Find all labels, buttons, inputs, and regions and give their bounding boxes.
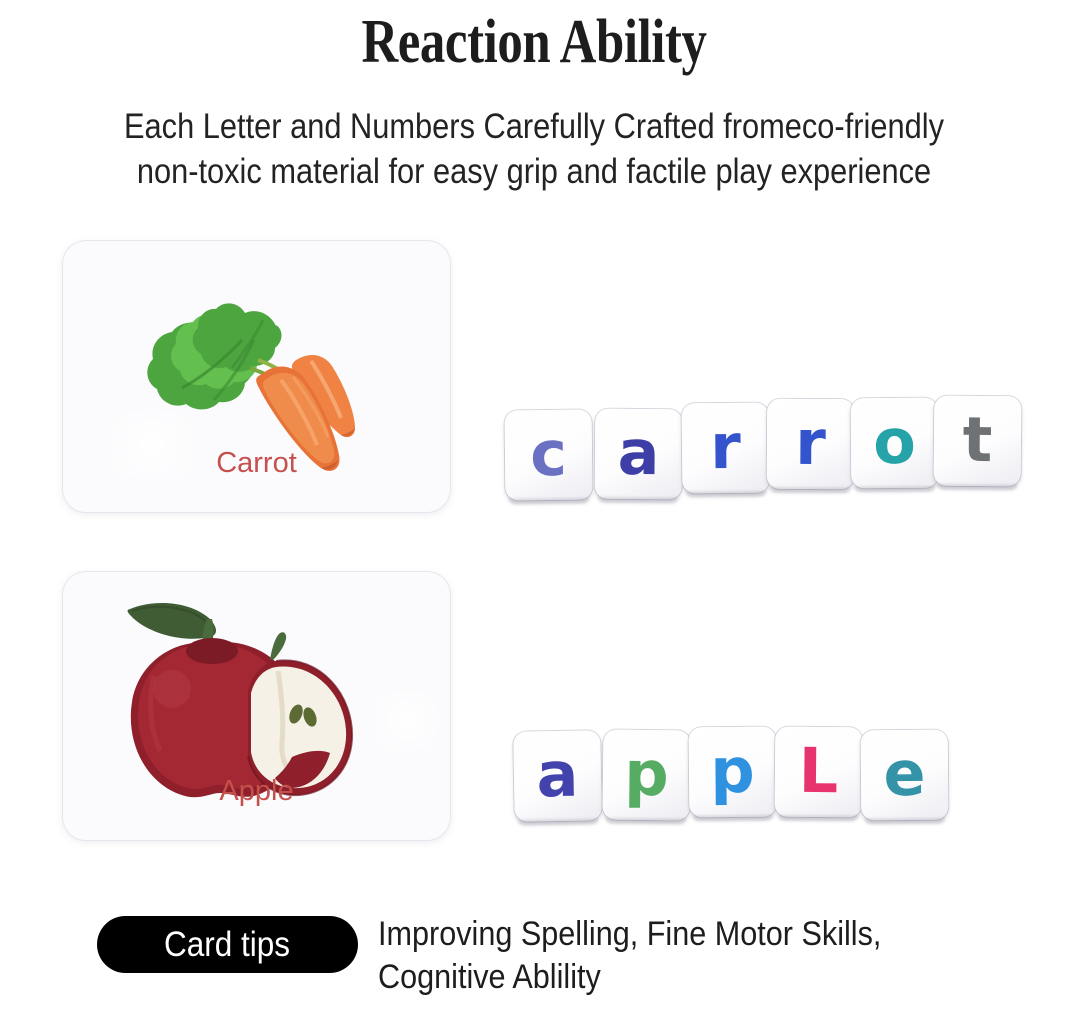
letter-tile-o[interactable]: o — [851, 398, 939, 489]
flashcard-carrot-caption: Carrot — [62, 446, 451, 480]
letter-tile-t[interactable]: t — [934, 396, 1022, 487]
page-subtitle-line-1: Each Letter and Numbers Carefully Crafte… — [64, 104, 1004, 149]
letter-tile-glyph: L — [798, 740, 838, 802]
letter-tile-p-1[interactable]: p — [603, 730, 691, 821]
card-tips-label: Card tips — [164, 926, 290, 964]
card-tips-line-1: Improving Spelling, Fine Motor Skills, — [378, 913, 981, 956]
letter-tile-glyph: t — [962, 409, 992, 471]
letter-tile-l[interactable]: L — [775, 727, 863, 818]
letter-tile-glyph: e — [883, 743, 925, 805]
page-subtitle: Each Letter and Numbers Carefully Crafte… — [64, 104, 1004, 194]
letter-tile-e[interactable]: e — [861, 730, 949, 821]
flashcard-carrot[interactable]: Carrot — [62, 240, 451, 513]
page-subtitle-line-2: non-toxic material for easy grip and fac… — [64, 149, 1004, 194]
letter-tile-glyph: p — [710, 740, 755, 802]
letter-tile-glyph: p — [624, 743, 669, 805]
card-tips-badge: Card tips — [97, 916, 358, 973]
letter-tile-glyph: r — [795, 412, 826, 474]
letter-tile-glyph: r — [710, 416, 741, 478]
letter-tile-c[interactable]: c — [505, 410, 593, 501]
letter-tile-p-2[interactable]: p — [689, 727, 777, 818]
letter-tile-a[interactable]: a — [513, 730, 602, 822]
card-tips-line-2: Cognitive Ablility — [378, 956, 981, 999]
flashcard-apple[interactable]: Apple — [62, 571, 451, 841]
letter-tile-glyph: a — [617, 422, 659, 484]
letter-tile-r-2[interactable]: r — [767, 399, 854, 489]
letter-tile-glyph: o — [873, 411, 916, 473]
letter-tile-glyph: c — [530, 423, 567, 485]
letter-tile-r-1[interactable]: r — [682, 403, 770, 494]
flashcard-apple-caption: Apple — [62, 774, 451, 808]
card-tips-description: Improving Spelling, Fine Motor Skills, C… — [378, 913, 981, 999]
letter-tile-glyph: a — [536, 744, 579, 807]
letter-tile-a[interactable]: a — [595, 409, 683, 500]
page-title: Reaction Ability — [96, 6, 972, 78]
